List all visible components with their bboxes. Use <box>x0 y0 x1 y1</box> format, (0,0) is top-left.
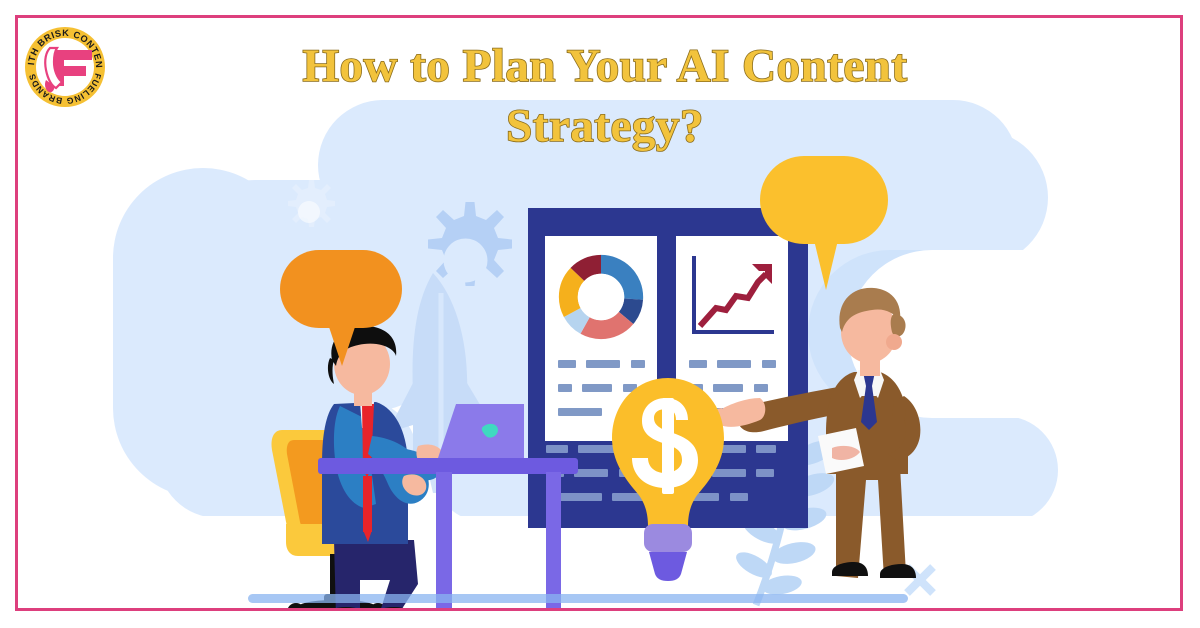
speech-bubble-yellow-body <box>760 156 888 244</box>
speech-bubble-orange[interactable] <box>280 250 402 328</box>
idea-money-lightbulb[interactable] <box>608 376 728 591</box>
page-title-line2: Strategy? <box>190 96 1020 156</box>
gear-small-icon <box>273 176 345 248</box>
page-title: How to Plan Your AI Content Strategy? <box>190 36 1020 156</box>
brisk-content-logo[interactable]: WITH BRISK CONTENT FUELING BRANDS <box>22 24 108 110</box>
floor-shadow <box>248 594 908 603</box>
text-bar <box>574 469 608 477</box>
donut-chart <box>558 254 644 345</box>
speech-bubble-yellow[interactable] <box>760 156 888 244</box>
standing-presenter <box>708 268 968 608</box>
laptop[interactable] <box>420 396 530 481</box>
banner-canvas: How to Plan Your AI Content Strategy? WI… <box>0 0 1200 628</box>
text-bar <box>689 360 707 368</box>
text-bar <box>631 360 645 368</box>
page-title-line1: How to Plan Your AI Content <box>190 36 1020 96</box>
speech-bubble-yellow-tail <box>814 240 838 290</box>
speech-bubble-orange-tail <box>328 324 356 366</box>
text-bar <box>586 360 620 368</box>
speech-bubble-orange-body <box>280 250 402 328</box>
